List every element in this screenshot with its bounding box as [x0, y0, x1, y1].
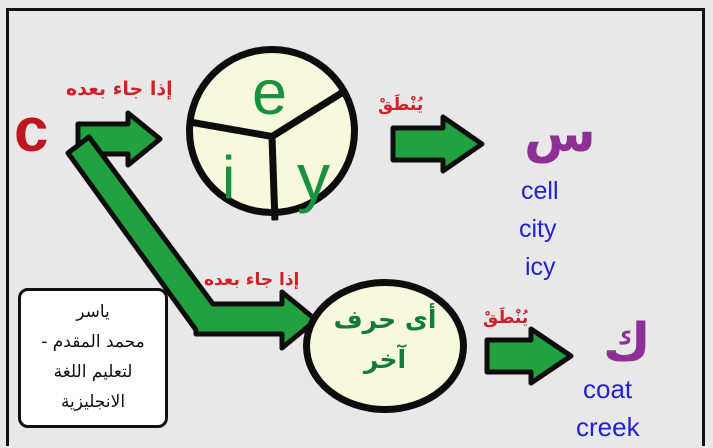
source-letter-c: c [14, 100, 48, 162]
credit-line-3: لتعليم اللغة [29, 357, 157, 387]
result-letter-seen: س [524, 104, 596, 164]
result-label-bottom: يُنْطَقْ [483, 308, 528, 328]
credit-line-4: الانجليزية [29, 387, 157, 417]
credit-line-1: ياسر [29, 297, 157, 327]
credit-line-2: محمد المقدم - [29, 327, 157, 357]
vowel-letter-y: y [297, 144, 330, 210]
pie-divider-3 [269, 136, 279, 220]
vowel-letter-e: e [252, 62, 287, 125]
example-icy: icy [525, 253, 556, 282]
example-cell: cell [521, 177, 559, 206]
example-creek: creek [576, 412, 640, 443]
vowel-letter-i: i [222, 148, 235, 208]
other-circle-line1: أى حرف [318, 305, 452, 334]
example-city: city [519, 215, 557, 244]
example-coat: coat [583, 374, 632, 405]
condition-label-bottom: إذا جاء بعده [204, 270, 299, 290]
diagram-canvas: c إذا جاء بعده e i y يُنْطَقْ س cell cit… [0, 0, 713, 448]
credit-box: ياسر محمد المقدم - لتعليم اللغة الانجليز… [18, 288, 168, 428]
other-circle-line2: آخر [318, 345, 452, 374]
condition-label-top: إذا جاء بعده [66, 78, 173, 100]
result-label-top: يُنْطَقْ [378, 95, 423, 115]
result-letter-kaf: ﻙ [603, 313, 651, 373]
